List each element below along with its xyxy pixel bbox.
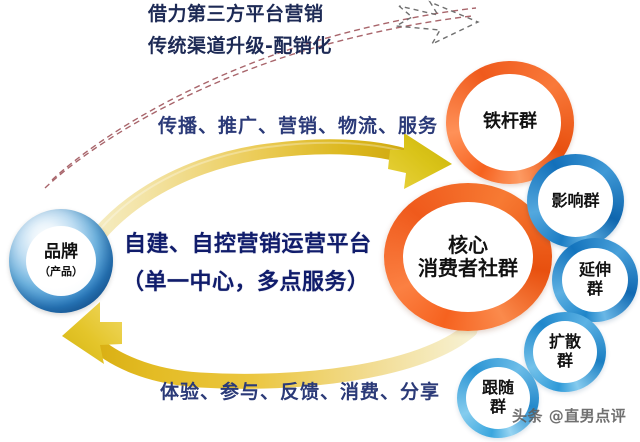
brand-node-sublabel: （产品）	[39, 263, 83, 279]
node-follower-label: 跟随 群	[482, 379, 514, 416]
platform-headline-line1: 自建、自控营销运营平台	[124, 232, 372, 257]
platform-headline-line2: （单一中心，多点服务）	[122, 270, 370, 295]
brand-node-label: 品牌	[44, 243, 78, 262]
node-follower-label-line2: 群	[490, 397, 506, 416]
node-extension-label-line1: 延伸	[579, 260, 611, 279]
brand-node[interactable]: 品牌 （产品）	[9, 209, 113, 313]
node-diffusion-label-line1: 扩散	[549, 332, 581, 351]
node-diffusion-group[interactable]: 扩散 群	[524, 312, 606, 392]
node-core-label-line2: 消费者社群	[418, 256, 518, 280]
caption-channel-upgrade: 传统渠道升级-配销化	[148, 36, 332, 58]
caption-inbound-flow: 体验、参与、反馈、消费、分享	[160, 382, 440, 404]
node-hardcore-label: 铁杆群	[483, 112, 537, 133]
brand-node-face: 品牌 （产品）	[26, 226, 96, 296]
watermark: 头条 @直男点评	[512, 405, 626, 426]
caption-third-party-marketing: 借力第三方平台营销	[148, 4, 324, 26]
node-core-label-line1: 核心	[448, 233, 488, 257]
node-follower-group[interactable]: 跟随 群	[457, 358, 539, 438]
node-follower-label-line1: 跟随	[482, 378, 514, 397]
diagram-canvas: 借力第三方平台营销 传统渠道升级-配销化 传播、推广、营销、物流、服务 体验、参…	[0, 0, 640, 442]
node-extension-label: 延伸 群	[579, 261, 611, 298]
node-extension-label-line2: 群	[587, 279, 603, 298]
node-core-label: 核心 消费者社群	[418, 234, 518, 280]
caption-outbound-flow: 传播、推广、营销、物流、服务	[158, 116, 438, 138]
node-diffusion-label: 扩散 群	[549, 333, 581, 370]
node-extension-group[interactable]: 延伸 群	[552, 238, 638, 322]
inbound-arrow	[62, 302, 470, 381]
third-party-route-arrowhead	[396, 2, 478, 44]
node-influence-group[interactable]: 影响群	[527, 154, 624, 248]
node-diffusion-label-line2: 群	[557, 351, 573, 370]
node-influence-label: 影响群	[551, 192, 599, 211]
